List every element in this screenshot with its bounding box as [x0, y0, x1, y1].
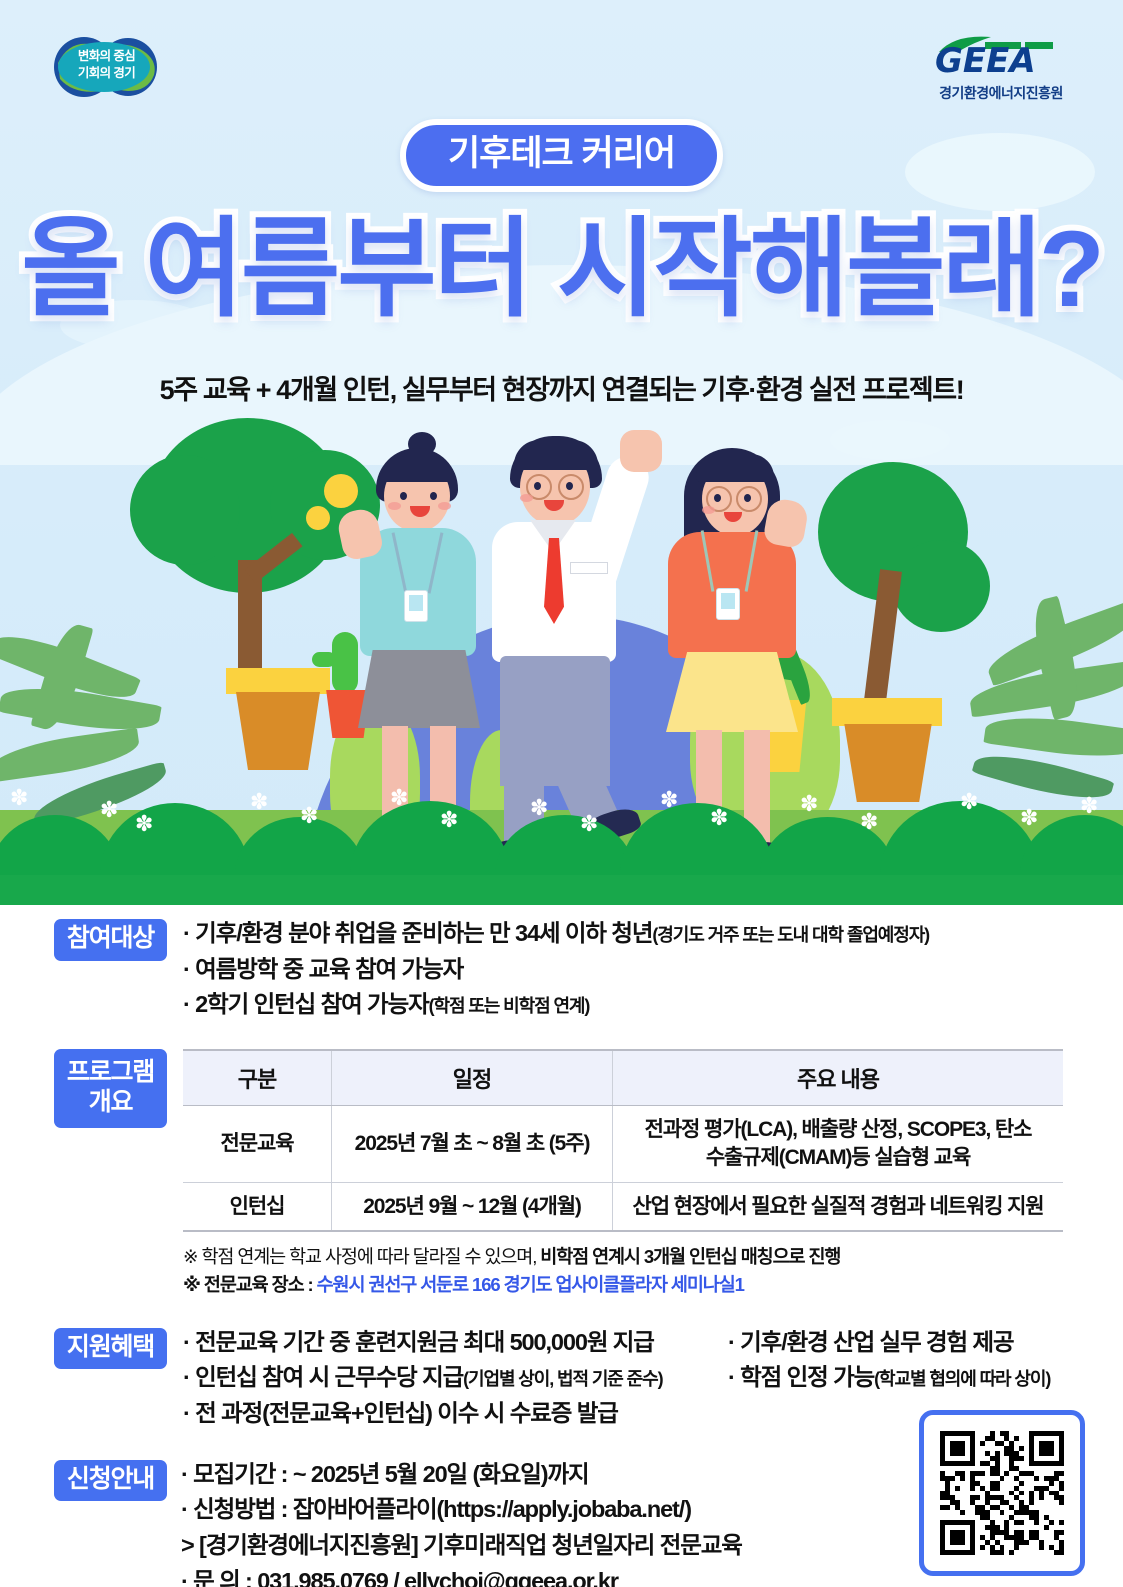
- list-item: · 기후/환경 산업 실무 경험 제공: [728, 1325, 1123, 1361]
- page-title: 올 여름부터 시작해볼래?: [0, 215, 1123, 323]
- eye: [400, 492, 407, 500]
- shirt-pocket: [570, 562, 608, 574]
- skirt: [358, 650, 480, 728]
- section-program: 프로그램 개요 구분 일정 주요 내용 전문교육 20: [54, 1049, 1123, 1299]
- coin: [306, 506, 330, 530]
- cell-content: 전과정 평가(LCA), 배출량 산정, SCOPE3, 탄소 수출규제(CMA…: [613, 1106, 1064, 1182]
- apply-list: · 모집기간 : ~ 2025년 5월 20일 (화요일)까지 · 신청방법 :…: [181, 1457, 742, 1587]
- table-row: 인턴십 2025년 9월 ~ 12월 (4개월) 산업 현장에서 필요한 실질적…: [183, 1182, 1063, 1231]
- list-item: · 모집기간 : ~ 2025년 5월 20일 (화요일)까지: [181, 1457, 742, 1493]
- cell-category: 인턴십: [183, 1182, 332, 1231]
- list-item: · 2학기 인턴십 참여 가능자(학점 또는 비학점 연계): [183, 987, 929, 1023]
- qr-code[interactable]: [919, 1410, 1085, 1576]
- target-list: · 기후/환경 분야 취업을 준비하는 만 34세 이하 청년(경기도 거주 또…: [183, 916, 929, 1023]
- eye: [566, 482, 573, 490]
- list-item-contact: · 문 의 : 031.985.0769 / ellychoi@ggeea.or…: [181, 1564, 742, 1587]
- eye: [714, 494, 721, 502]
- cell-content-line2: 수출규제(CMAM)등 실습형 교육: [619, 1144, 1057, 1172]
- list-item-apply-url[interactable]: · 신청방법 : 잡아바어플라이(https://apply.jobaba.ne…: [181, 1492, 742, 1528]
- note1-bold: 비학점 연계시 3개월 인턴십 매칭으로 진행: [540, 1246, 840, 1267]
- poster-root: 변화의 중심 기회의 경기 GEEA 경기환경에너지진흥원 기후테크 커리어 올…: [0, 0, 1123, 1587]
- coin: [324, 474, 358, 508]
- col-schedule: 일정: [332, 1050, 613, 1106]
- benefits-left-list: · 전문교육 기간 중 훈련지원금 최대 500,000원 지급 · 인턴십 참…: [183, 1325, 728, 1432]
- list-item: · 전문교육 기간 중 훈련지원금 최대 500,000원 지급: [183, 1325, 728, 1361]
- cell-content: 산업 현장에서 필요한 실질적 경험과 네트워킹 지원: [613, 1182, 1064, 1231]
- benefits-tag: 지원혜택: [54, 1328, 167, 1370]
- tree-crown: [130, 455, 240, 565]
- note1-plain: ※ 학점 연계는 학교 사정에 따라 달라질 수 있으며,: [183, 1246, 540, 1267]
- list-item: · 여름방학 중 교육 참여 가능자: [183, 952, 929, 988]
- table-row: 전문교육 2025년 7월 초 ~ 8월 초 (5주) 전과정 평가(LCA),…: [183, 1106, 1063, 1182]
- program-tag: 프로그램 개요: [54, 1049, 167, 1128]
- ggeea-org-name: 경기환경에너지진흥원: [921, 83, 1081, 103]
- gyeonggi-logo: 변화의 중심 기회의 경기: [44, 33, 169, 101]
- id-badge: [716, 588, 740, 620]
- list-item: · 학점 인정 가능(학교별 협의에 따라 상이): [728, 1360, 1123, 1396]
- section-target: 참여대상 · 기후/환경 분야 취업을 준비하는 만 34세 이하 청년(경기도…: [54, 919, 1123, 1023]
- gg-logo-line2: 기회의 경기: [44, 65, 169, 82]
- program-note-1: ※ 학점 연계는 학교 사정에 따라 달라질 수 있으며, 비학점 연계시 3개…: [183, 1243, 1063, 1271]
- program-tag-line1: 프로그램: [54, 1058, 167, 1088]
- ggeea-logo: GEEA 경기환경에너지진흥원: [921, 32, 1081, 104]
- cell-category: 전문교육: [183, 1106, 332, 1182]
- cheek: [702, 506, 715, 514]
- program-table-wrap: 구분 일정 주요 내용 전문교육 2025년 7월 초 ~ 8월 초 (5주) …: [183, 1049, 1063, 1299]
- qr-code-matrix: [940, 1431, 1064, 1555]
- skirt: [666, 652, 798, 732]
- cheek: [520, 494, 533, 502]
- venue-address: 수원시 권선구 서둔로 166 경기도 업사이클플라자 세미나실1: [317, 1274, 744, 1295]
- cheek: [438, 502, 451, 510]
- flower-pot-rim: [226, 668, 330, 694]
- target-tag: 참여대상: [54, 919, 167, 961]
- eye: [430, 492, 437, 500]
- eye: [744, 494, 751, 502]
- apply-tag: 신청안내: [54, 1460, 167, 1502]
- hair-fringe: [696, 454, 774, 482]
- cell-schedule: 2025년 9월 ~ 12월 (4개월): [332, 1182, 613, 1231]
- cell-content-line1: 전과정 평가(LCA), 배출량 산정, SCOPE3, 탄소: [619, 1116, 1057, 1144]
- cheek: [388, 502, 401, 510]
- flower-pot: [228, 692, 328, 770]
- table-header-row: 구분 일정 주요 내용: [183, 1050, 1063, 1106]
- category-badge: 기후테크 커리어: [400, 119, 723, 192]
- hair-fringe: [514, 440, 598, 470]
- list-item: > [경기환경에너지진흥원] 기후미래직업 청년일자리 전문교육: [181, 1528, 742, 1564]
- hero-section: 변화의 중심 기회의 경기 GEEA 경기환경에너지진흥원 기후테크 커리어 올…: [0, 0, 1123, 905]
- program-note-2: ※ 전문교육 장소 : 수원시 권선구 서둔로 166 경기도 업사이클플라자 …: [183, 1271, 1063, 1299]
- program-table: 구분 일정 주요 내용 전문교육 2025년 7월 초 ~ 8월 초 (5주) …: [183, 1049, 1063, 1232]
- category-badge-wrap: 기후테크 커리어: [0, 119, 1123, 192]
- col-content: 주요 내용: [613, 1050, 1064, 1106]
- eye: [534, 482, 541, 490]
- id-badge: [404, 590, 428, 622]
- list-item: · 전 과정(전문교육+인턴십) 이수 시 수료증 발급: [183, 1396, 728, 1432]
- list-item: · 기후/환경 분야 취업을 준비하는 만 34세 이하 청년(경기도 거주 또…: [183, 916, 929, 952]
- cell-schedule: 2025년 7월 초 ~ 8월 초 (5주): [332, 1106, 613, 1182]
- program-tag-line2: 개요: [54, 1088, 167, 1118]
- ggeea-wordmark: GEEA: [935, 41, 1036, 80]
- list-item: · 인턴십 참여 시 근무수당 지급(기업별 상이, 법적 기준 준수): [183, 1360, 728, 1396]
- col-category: 구분: [183, 1050, 332, 1106]
- hair-fringe: [382, 456, 452, 482]
- note2-label: ※ 전문교육 장소 :: [183, 1274, 317, 1295]
- hero-illustration: ✽ ✽ ✽ ✽ ✽ ✽ ✽ ✽ ✽ ✽ ✽ ✽ ✽ ✽ ✽ ✽: [0, 400, 1123, 905]
- gg-logo-line1: 변화의 중심: [44, 48, 169, 65]
